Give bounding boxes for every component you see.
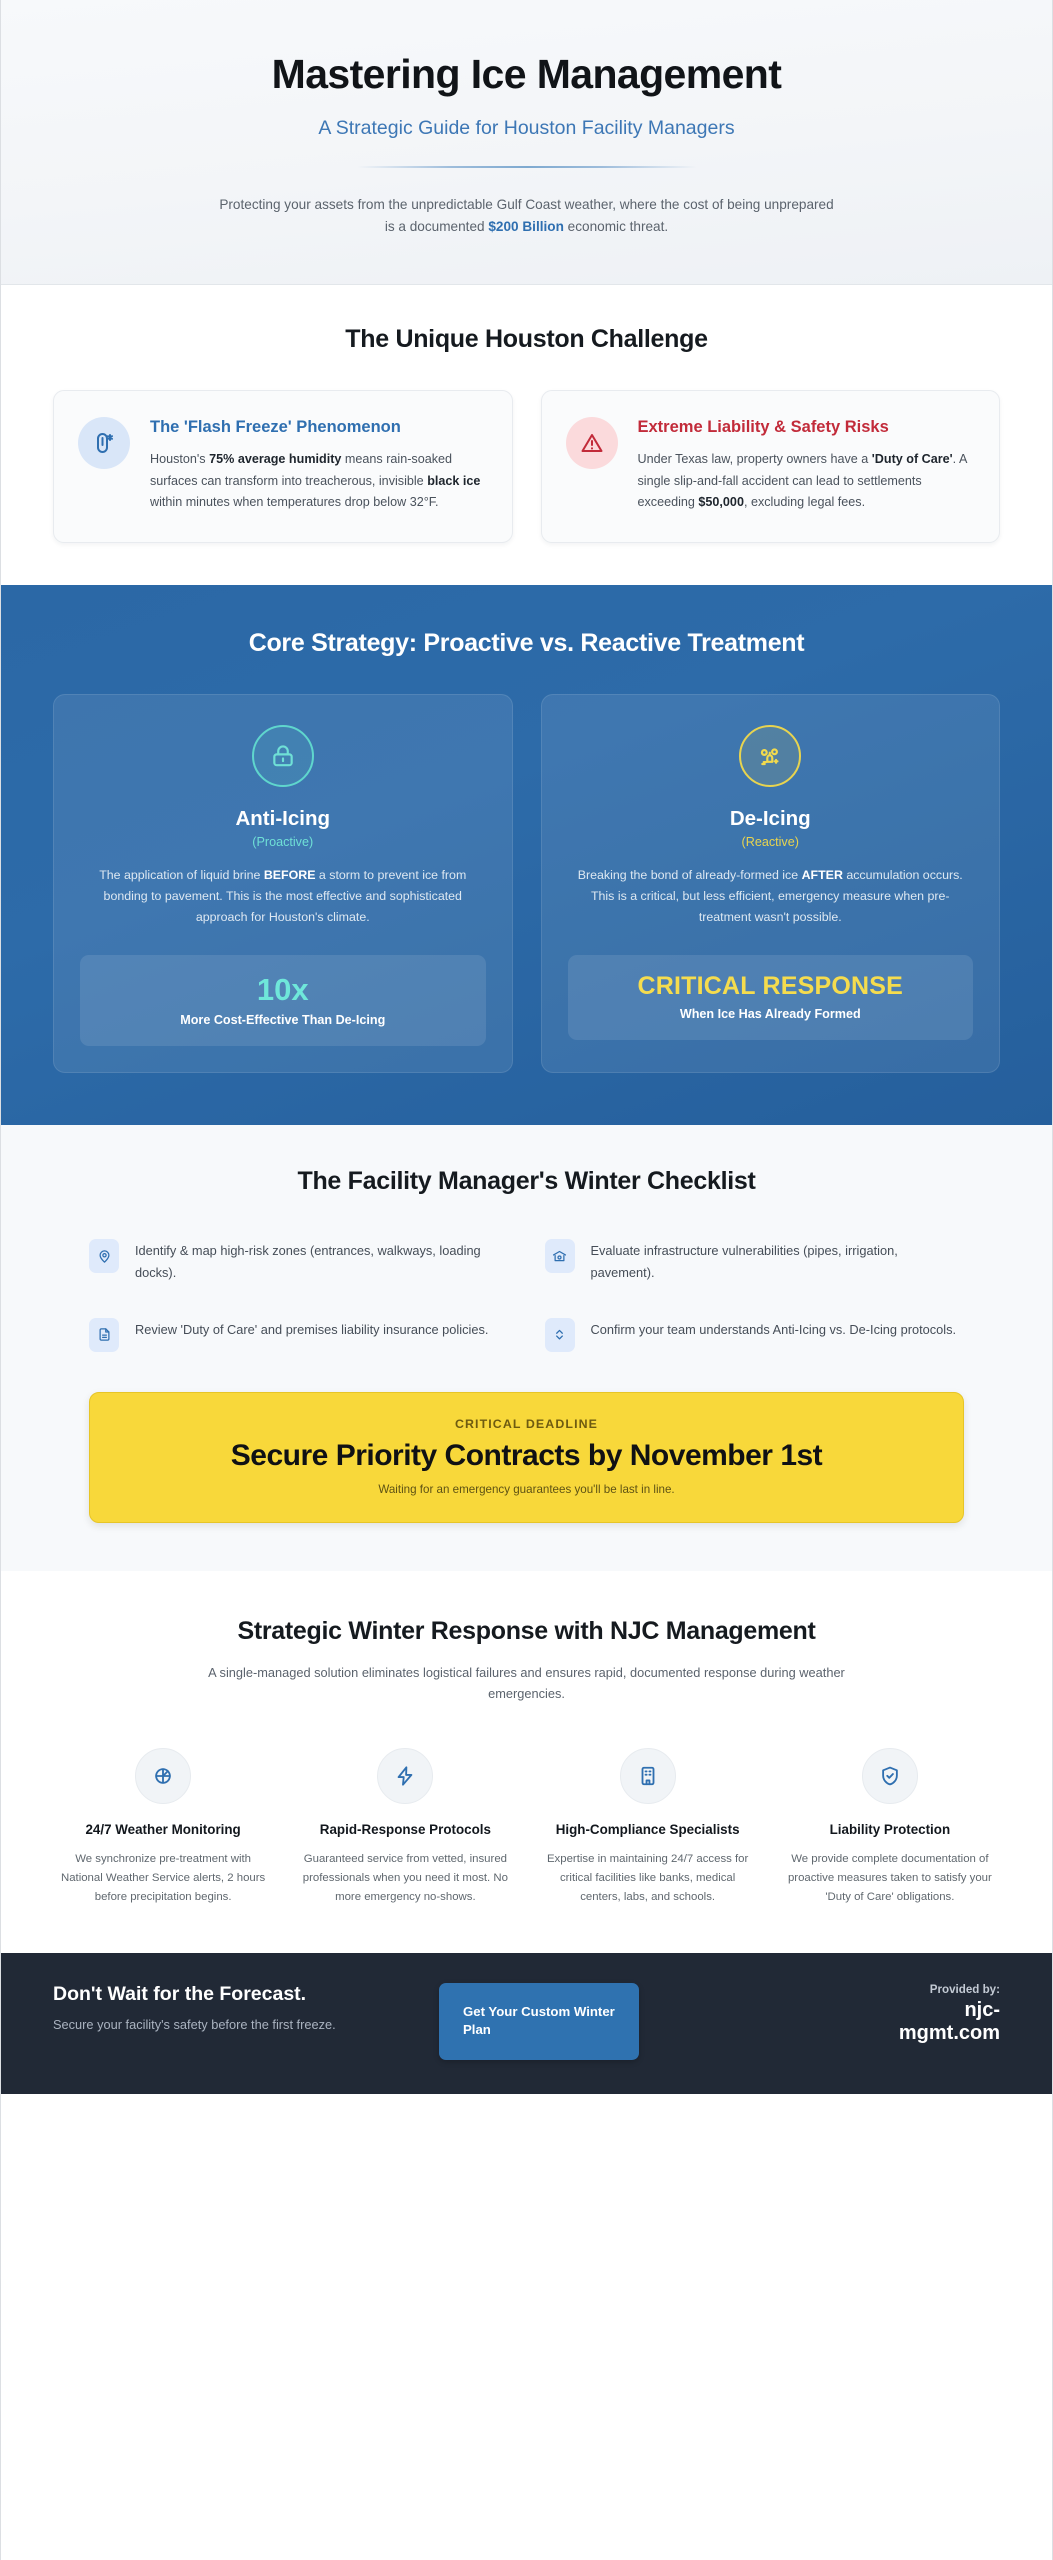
deadline-subline: Waiting for an emergency guarantees you'…	[110, 1483, 943, 1496]
challenge-section: The Unique Houston Challenge The 'Flash …	[1, 285, 1052, 585]
challenge-card-heading: Extreme Liability & Safety Risks	[638, 417, 976, 439]
deadline-headline: Secure Priority Contracts by November 1s…	[110, 1439, 943, 1473]
chevron-updown-icon	[545, 1318, 575, 1352]
get-custom-winter-plan-button[interactable]: Get Your Custom Winter Plan	[439, 1983, 639, 2060]
strategy-card-name: De-Icing	[568, 807, 974, 831]
njc-feature-grid: 24/7 Weather Monitoring We synchronize p…	[53, 1748, 1000, 1906]
strategy-title: Core Strategy: Proactive vs. Reactive Tr…	[53, 629, 1000, 658]
njc-feature: Liability Protection We provide complete…	[780, 1748, 1000, 1906]
strategy-stat-value: 10x	[94, 973, 472, 1007]
strategy-stat-label: More Cost-Effective Than De-Icing	[94, 1013, 472, 1027]
page-title: Mastering Ice Management	[61, 52, 992, 98]
footer-provider-block: Provided by: njc-mgmt.com	[880, 1983, 1000, 2046]
challenge-card: The 'Flash Freeze' Phenomenon Houston's …	[53, 390, 513, 543]
footer-cta-bar: Don't Wait for the Forecast. Secure your…	[1, 1953, 1052, 2094]
challenge-card: Extreme Liability & Safety Risks Under T…	[541, 390, 1001, 543]
njc-feature-desc: Expertise in maintaining 24/7 access for…	[544, 1850, 752, 1907]
strategy-card-tag: (Reactive)	[568, 835, 974, 849]
page-subtitle: A Strategic Guide for Houston Facility M…	[61, 117, 992, 140]
strategy-section: Core Strategy: Proactive vs. Reactive Tr…	[1, 585, 1052, 1126]
njc-feature: Rapid-Response Protocols Guaranteed serv…	[295, 1748, 515, 1906]
checklist-item[interactable]: Identify & map high-risk zones (entrance…	[89, 1238, 509, 1282]
strategy-card-anti-icing: Anti-Icing (Proactive) The application o…	[53, 694, 513, 1074]
strategy-stat-box: 10x More Cost-Effective Than De-Icing	[80, 955, 486, 1046]
njc-feature: High-Compliance Specialists Expertise in…	[538, 1748, 758, 1906]
njc-lede: A single-managed solution eliminates log…	[207, 1663, 847, 1704]
weather-monitor-icon	[135, 1748, 191, 1804]
checklist-item[interactable]: Review 'Duty of Care' and premises liabi…	[89, 1317, 509, 1352]
strategy-card-de-icing: De-Icing (Reactive) Breaking the bond of…	[541, 694, 1001, 1074]
document-icon	[89, 1318, 119, 1352]
checklist-item[interactable]: Evaluate infrastructure vulnerabilities …	[545, 1238, 965, 1282]
hero-lede: Protecting your assets from the unpredic…	[217, 194, 837, 238]
checklist-title: The Facility Manager's Winter Checklist	[53, 1167, 1000, 1196]
strategy-stat-label: When Ice Has Already Formed	[582, 1007, 960, 1021]
njc-feature-name: 24/7 Weather Monitoring	[59, 1821, 267, 1840]
strategy-stat-value: CRITICAL RESPONSE	[582, 973, 960, 1001]
hero-lede-highlight: $200 Billion	[488, 219, 564, 234]
ice-melt-icon	[739, 725, 801, 787]
strategy-card-name: Anti-Icing	[80, 807, 486, 831]
checklist-item-text: Identify & map high-risk zones (entrance…	[135, 1238, 509, 1282]
njc-feature-name: Rapid-Response Protocols	[301, 1821, 509, 1840]
challenge-card-grid: The 'Flash Freeze' Phenomenon Houston's …	[53, 390, 1000, 543]
thermometer-snow-icon	[78, 417, 130, 469]
footer-subtitle: Secure your facility's safety before the…	[53, 2015, 413, 2035]
lightning-bolt-icon	[377, 1748, 433, 1804]
njc-feature-name: High-Compliance Specialists	[544, 1821, 752, 1840]
infrastructure-icon	[545, 1239, 575, 1273]
njc-feature-desc: We provide complete documentation of pro…	[786, 1850, 994, 1907]
deadline-banner: CRITICAL DEADLINE Secure Priority Contra…	[89, 1392, 964, 1523]
njc-title: Strategic Winter Response with NJC Manag…	[53, 1617, 1000, 1646]
checklist-item-text: Evaluate infrastructure vulnerabilities …	[591, 1238, 965, 1282]
footer-text-block: Don't Wait for the Forecast. Secure your…	[53, 1983, 413, 2035]
strategy-card-desc: Breaking the bond of already-formed ice …	[568, 865, 974, 927]
strategy-card-grid: Anti-Icing (Proactive) The application o…	[53, 694, 1000, 1074]
lock-icon	[252, 725, 314, 787]
checklist-item-text: Review 'Duty of Care' and premises liabi…	[135, 1317, 488, 1340]
njc-feature-desc: Guaranteed service from vetted, insured …	[301, 1850, 509, 1907]
challenge-card-heading: The 'Flash Freeze' Phenomenon	[150, 417, 488, 439]
infographic-page: Mastering Ice Management A Strategic Gui…	[0, 0, 1053, 2560]
warning-triangle-icon	[566, 417, 618, 469]
hero-divider	[357, 166, 697, 168]
hero-lede-after: economic threat.	[564, 219, 668, 234]
map-pin-icon	[89, 1239, 119, 1273]
challenge-title: The Unique Houston Challenge	[53, 325, 1000, 354]
shield-check-icon	[862, 1748, 918, 1804]
njc-feature-desc: We synchronize pre-treatment with Nation…	[59, 1850, 267, 1907]
challenge-card-body: Under Texas law, property owners have a …	[638, 449, 976, 514]
hero-section: Mastering Ice Management A Strategic Gui…	[1, 0, 1052, 285]
njc-section: Strategic Winter Response with NJC Manag…	[1, 1571, 1052, 1953]
provided-by-label: Provided by:	[880, 1983, 1000, 1996]
njc-feature: 24/7 Weather Monitoring We synchronize p…	[53, 1748, 273, 1906]
checklist-item[interactable]: Confirm your team understands Anti-Icing…	[545, 1317, 965, 1352]
deadline-kicker: CRITICAL DEADLINE	[110, 1417, 943, 1431]
footer-title: Don't Wait for the Forecast.	[53, 1983, 413, 2006]
strategy-card-tag: (Proactive)	[80, 835, 486, 849]
strategy-stat-box: CRITICAL RESPONSE When Ice Has Already F…	[568, 955, 974, 1040]
building-icon	[620, 1748, 676, 1804]
provider-domain[interactable]: njc-mgmt.com	[880, 1999, 1000, 2046]
checklist-grid: Identify & map high-risk zones (entrance…	[53, 1238, 1000, 1351]
strategy-card-desc: The application of liquid brine BEFORE a…	[80, 865, 486, 927]
checklist-section: The Facility Manager's Winter Checklist …	[1, 1125, 1052, 1570]
challenge-card-body: Houston's 75% average humidity means rai…	[150, 449, 488, 514]
njc-feature-name: Liability Protection	[786, 1821, 994, 1840]
checklist-item-text: Confirm your team understands Anti-Icing…	[591, 1317, 957, 1340]
